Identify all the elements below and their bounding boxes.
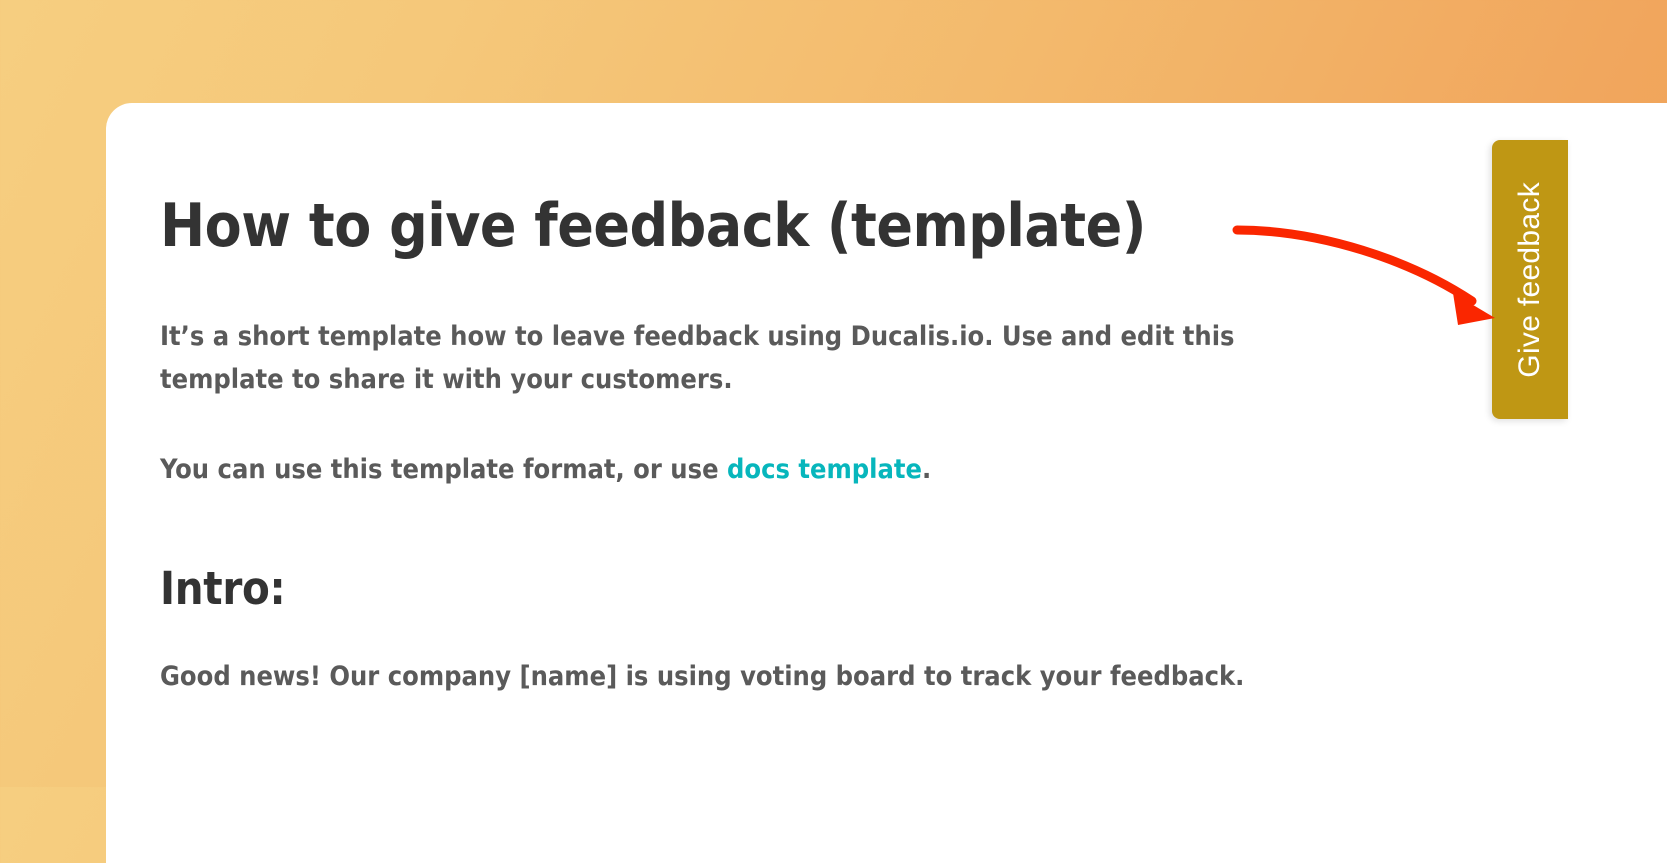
section-heading-intro: Intro:	[160, 564, 1667, 614]
template-format-text-before: You can use this template format, or use	[160, 454, 727, 485]
document-content: How to give feedback (template) It’s a s…	[106, 103, 1667, 699]
page-root: How to give feedback (template) It’s a s…	[0, 0, 1667, 787]
docs-template-link[interactable]: docs template	[727, 454, 922, 485]
section-body-intro: Good news! Our company [name] is using v…	[160, 655, 1280, 699]
template-format-text-after: .	[922, 454, 931, 485]
template-format-paragraph: You can use this template format, or use…	[160, 448, 1280, 492]
give-feedback-tab-label: Give feedback	[1513, 182, 1547, 378]
intro-paragraph: It’s a short template how to leave feedb…	[160, 315, 1280, 402]
page-title: How to give feedback (template)	[160, 195, 1667, 259]
give-feedback-tab-button[interactable]: Give feedback	[1492, 140, 1568, 419]
document-card: How to give feedback (template) It’s a s…	[106, 103, 1667, 863]
